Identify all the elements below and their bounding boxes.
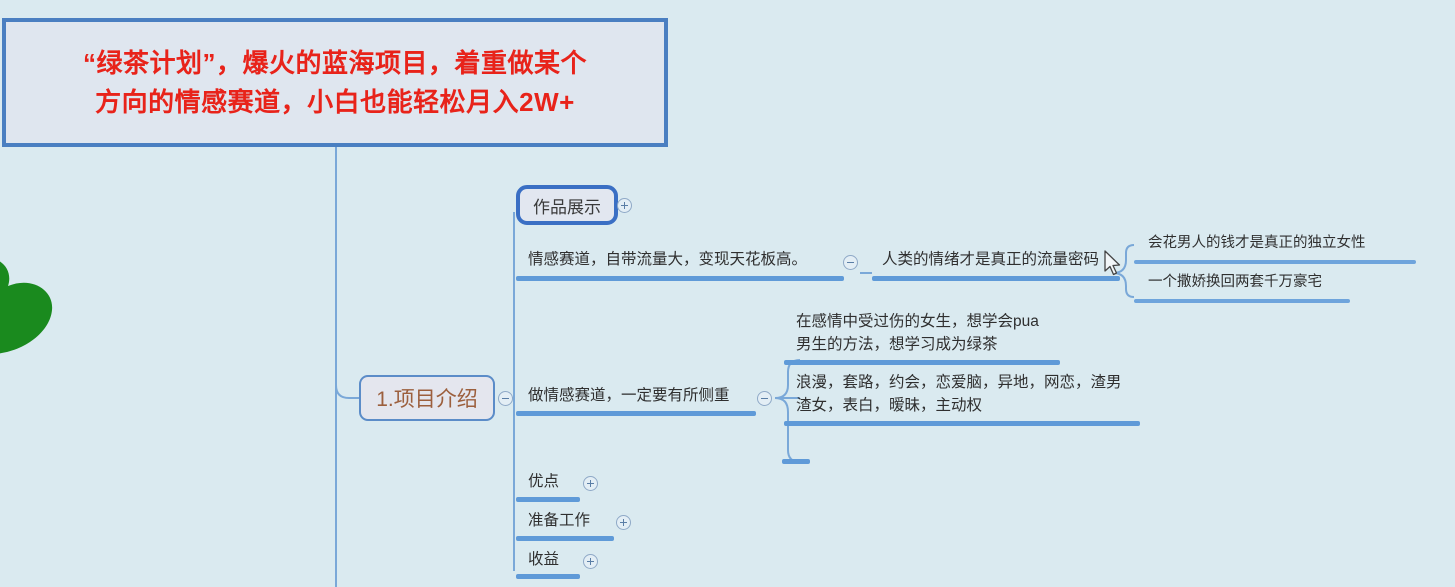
toggle-must-focus[interactable] — [757, 391, 772, 406]
underline-advantages — [516, 497, 580, 502]
node-works-showcase[interactable]: 作品展示 — [516, 185, 618, 225]
node-independent-woman[interactable]: 会花男人的钱才是真正的独立女性 — [1142, 233, 1398, 257]
node-empty-branch[interactable] — [790, 440, 830, 460]
underline-independent-woman — [1134, 260, 1416, 264]
mindmap-canvas: “绿茶计划”，爆火的蓝海项目，着重做某个 方向的情感赛道，小白也能轻松月入2W+… — [0, 0, 1455, 587]
node-emotion-code[interactable]: 人类的情绪才是真正的流量密码 — [876, 248, 1116, 274]
node-must-focus[interactable]: 做情感赛道，一定要有所侧重 — [522, 384, 758, 410]
toggle-preparation[interactable] — [616, 515, 631, 530]
toggle-emotion-track[interactable] — [843, 255, 858, 270]
underline-emotion-track — [516, 276, 844, 281]
node-hurt-girls[interactable]: 在感情中受过伤的女生，想学会pua 男生的方法，想学习成为绿茶 — [790, 311, 1072, 359]
underline-emotion-code — [872, 276, 1120, 281]
page-title: “绿茶计划”，爆火的蓝海项目，着重做某个 方向的情感赛道，小白也能轻松月入2W+ — [69, 44, 601, 122]
node-preparation[interactable]: 准备工作 — [522, 511, 610, 535]
toggle-income[interactable] — [583, 554, 598, 569]
mindmap-title-box[interactable]: “绿茶计划”，爆火的蓝海项目，着重做某个 方向的情感赛道，小白也能轻松月入2W+ — [2, 18, 668, 147]
node-project-intro[interactable]: 1.项目介绍 — [359, 375, 495, 421]
node-sajiao-mansion[interactable]: 一个撒娇换回两套千万豪宅 — [1142, 272, 1360, 296]
node-advantages[interactable]: 优点 — [522, 472, 578, 496]
underline-keywords — [784, 421, 1140, 426]
node-income[interactable]: 收益 — [522, 550, 578, 574]
node-keywords[interactable]: 浪漫，套路，约会，恋爱脑，异地，网恋，渣男 渣女，表白，暧昧，主动权 — [790, 372, 1134, 420]
toggle-works-showcase[interactable] — [617, 198, 632, 213]
node-works-showcase-label: 作品展示 — [533, 193, 601, 218]
node-emotion-track[interactable]: 情感赛道，自带流量大，变现天花板高。 — [522, 248, 842, 274]
toggle-advantages[interactable] — [583, 476, 598, 491]
underline-hurt-girls — [784, 360, 1060, 365]
underline-sajiao-mansion — [1134, 299, 1350, 303]
underline-must-focus — [516, 411, 756, 416]
toggle-project-intro[interactable] — [498, 391, 513, 406]
node-project-intro-label: 1.项目介绍 — [376, 383, 478, 413]
green-leaf-icon — [0, 252, 56, 356]
underline-income — [516, 574, 580, 579]
underline-empty-branch — [782, 459, 810, 464]
underline-preparation — [516, 536, 614, 541]
